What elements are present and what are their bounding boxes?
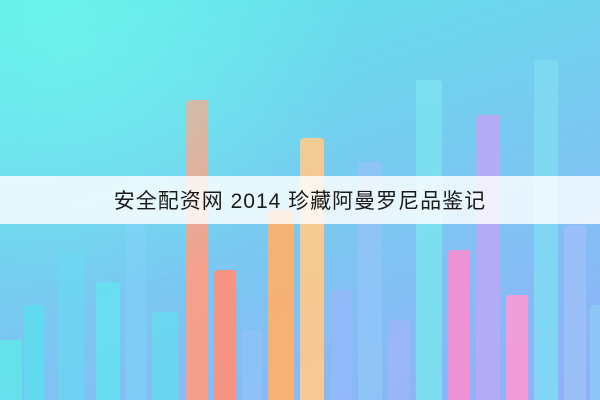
bar <box>268 210 294 400</box>
bar <box>58 250 84 400</box>
bar <box>476 115 500 400</box>
bar <box>448 250 470 400</box>
bar <box>506 295 528 400</box>
bar <box>388 320 410 400</box>
bar <box>534 60 558 400</box>
bar <box>24 305 44 400</box>
bar <box>590 305 600 400</box>
bar <box>152 312 178 400</box>
overlay-title: 安全配资网 2014 珍藏阿曼罗尼品鉴记 <box>114 185 486 215</box>
bar <box>416 80 442 400</box>
bar <box>564 225 586 400</box>
bar <box>0 340 22 400</box>
title-band: 安全配资网 2014 珍藏阿曼罗尼品鉴记 <box>0 176 600 224</box>
banner-image: 安全配资网 2014 珍藏阿曼罗尼品鉴记 <box>0 0 600 400</box>
bar <box>96 282 120 400</box>
bar <box>126 195 146 400</box>
bar <box>214 270 236 400</box>
bar <box>242 330 262 400</box>
bar <box>330 290 352 400</box>
bar <box>186 100 208 400</box>
